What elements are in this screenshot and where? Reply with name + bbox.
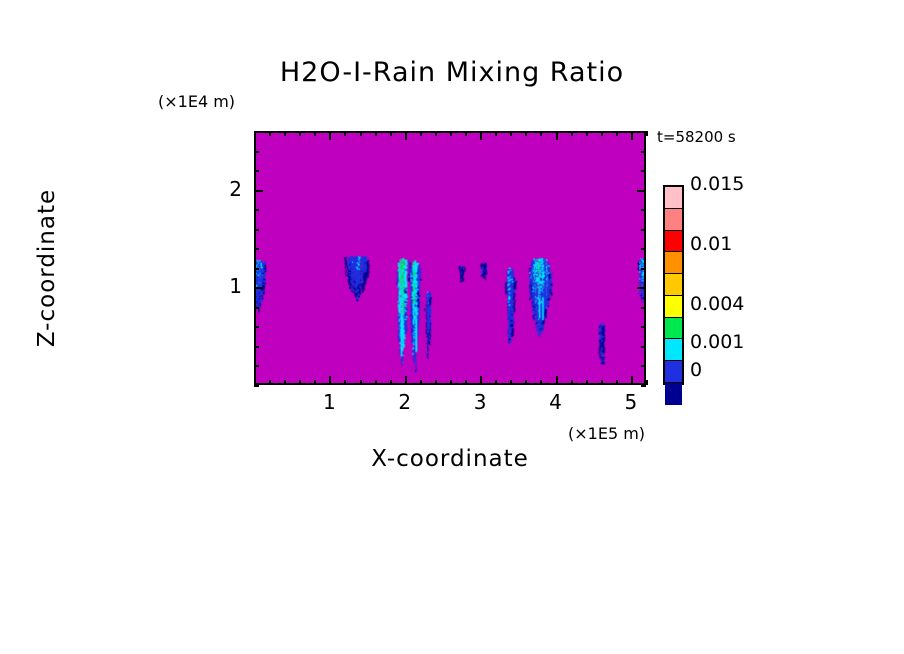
y-tick-minor (254, 248, 259, 250)
x-tick-minor (284, 380, 286, 385)
colorbar-tick-label: 0 (690, 359, 702, 381)
colorbar-band-4-yellow (665, 296, 682, 318)
colorbar-band-9-light-pink (665, 187, 682, 209)
colorbar-tick-label: 0.01 (690, 233, 732, 255)
y-tick-minor (254, 151, 259, 153)
y-tick-right-minor (641, 209, 646, 211)
x-tick-major (631, 376, 633, 385)
y-tick-minor (254, 326, 259, 328)
y-axis-label: Z-coordinate (34, 143, 60, 393)
y-tick-right-minor (641, 346, 646, 348)
x-tick-minor (360, 380, 362, 385)
x-tick-minor (314, 380, 316, 385)
x-tick-top-minor (284, 131, 286, 136)
x-tick-minor (435, 380, 437, 385)
x-tick-top-minor (465, 131, 467, 136)
x-tick-minor (465, 380, 467, 385)
x-tick-top-minor (616, 131, 618, 136)
x-tick-minor (525, 380, 527, 385)
colorbar-band-0-navy (665, 383, 682, 405)
y-tick-minor (254, 307, 259, 309)
y-tick-right-minor (641, 268, 646, 270)
y-tick-right-minor (641, 326, 646, 328)
x-tick-major (480, 376, 482, 385)
y-tick-major (254, 287, 263, 289)
x-tick-minor (616, 380, 618, 385)
colorbar-band-2-cyan (665, 339, 682, 361)
x-tick-top-major (405, 131, 407, 140)
colorbar (663, 185, 684, 385)
y-tick-right-major (637, 190, 646, 192)
y-tick-right-minor (641, 365, 646, 367)
x-tick-minor (450, 380, 452, 385)
x-tick-minor (375, 380, 377, 385)
y-tick-right-major (637, 287, 646, 289)
colorbar-tick-label: 0.015 (690, 173, 744, 195)
x-tick-major (556, 376, 558, 385)
x-tick-minor (299, 380, 301, 385)
x-tick-top-major (631, 131, 633, 140)
x-tick-minor (540, 380, 542, 385)
x-tick-top-minor (571, 131, 573, 136)
colorbar-tick-label: 0.004 (690, 293, 744, 315)
x-tick-label: 3 (460, 390, 500, 414)
x-tick-minor (586, 380, 588, 385)
x-axis-label: X-coordinate (254, 446, 646, 472)
y-tick-right-minor (641, 248, 646, 250)
y-tick-right-minor (641, 151, 646, 153)
chart-title: H2O-I-Rain Mixing Ratio (0, 57, 904, 88)
colorbar-band-5-gold (665, 274, 682, 296)
x-tick-label: 5 (611, 390, 651, 414)
x-tick-top-minor (540, 131, 542, 136)
x-tick-major (329, 376, 331, 385)
heatmap-field (256, 133, 644, 383)
x-tick-top-minor (360, 131, 362, 136)
y-tick-minor (254, 131, 259, 133)
x-tick-top-minor (390, 131, 392, 136)
colorbar-band-6-orange (665, 252, 682, 274)
x-tick-minor (495, 380, 497, 385)
y-tick-minor (254, 170, 259, 172)
x-tick-minor (420, 380, 422, 385)
y-tick-minor (254, 209, 259, 211)
x-tick-label: 2 (385, 390, 425, 414)
y-axis-unit-label: (×1E4 m) (158, 92, 235, 111)
x-tick-top-minor (601, 131, 603, 136)
x-tick-top-major (480, 131, 482, 140)
colorbar-band-1-blue (665, 361, 682, 383)
x-tick-major (405, 376, 407, 385)
x-tick-top-minor (495, 131, 497, 136)
colorbar-band-3-green (665, 318, 682, 340)
y-tick-right-minor (641, 307, 646, 309)
x-tick-top-minor (314, 131, 316, 136)
x-tick-minor (344, 380, 346, 385)
x-tick-top-minor (344, 131, 346, 136)
y-tick-minor (254, 229, 259, 231)
x-tick-top-minor (646, 131, 648, 136)
y-tick-right-minor (641, 170, 646, 172)
x-tick-top-major (556, 131, 558, 140)
y-tick-minor (254, 268, 259, 270)
colorbar-band-8-salmon (665, 209, 682, 231)
x-tick-top-minor (450, 131, 452, 136)
x-tick-top-minor (269, 131, 271, 136)
x-tick-minor (269, 380, 271, 385)
y-tick-right-minor (641, 131, 646, 133)
y-tick-right-minor (641, 229, 646, 231)
heatmap-plot-area (254, 131, 646, 385)
x-tick-label: 4 (536, 390, 576, 414)
x-tick-top-minor (420, 131, 422, 136)
y-tick-minor (254, 385, 259, 387)
x-tick-top-minor (435, 131, 437, 136)
x-tick-top-minor (586, 131, 588, 136)
y-tick-major (254, 190, 263, 192)
x-tick-top-major (329, 131, 331, 140)
colorbar-tick-label: 0.001 (690, 331, 744, 353)
x-tick-top-minor (375, 131, 377, 136)
x-tick-top-minor (510, 131, 512, 136)
x-tick-minor (571, 380, 573, 385)
x-tick-minor (601, 380, 603, 385)
y-tick-minor (254, 346, 259, 348)
figure-canvas: H2O-I-Rain Mixing Ratio (×1E4 m) t=58200… (0, 0, 904, 654)
x-tick-label: 1 (309, 390, 349, 414)
x-axis-unit-label: (×1E5 m) (568, 424, 645, 443)
x-tick-minor (510, 380, 512, 385)
y-tick-label: 2 (202, 177, 242, 201)
y-tick-minor (254, 365, 259, 367)
timestamp-annotation: t=58200 s (657, 128, 736, 146)
y-tick-right-minor (641, 385, 646, 387)
colorbar-band-7-red (665, 231, 682, 253)
y-tick-label: 1 (202, 274, 242, 298)
x-tick-minor (646, 380, 648, 385)
x-tick-top-minor (299, 131, 301, 136)
x-tick-top-minor (525, 131, 527, 136)
x-tick-minor (390, 380, 392, 385)
